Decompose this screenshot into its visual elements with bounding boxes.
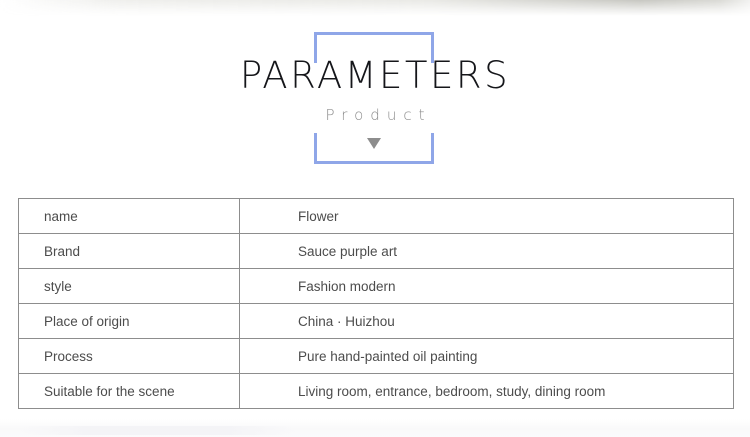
product-parameters-table: name Flower Brand Sauce purple art style… — [18, 198, 734, 409]
table-row: Process Pure hand-painted oil painting — [19, 339, 734, 374]
param-label: Suitable for the scene — [19, 374, 240, 409]
bracket-bottom-left — [314, 133, 317, 164]
table-body: name Flower Brand Sauce purple art style… — [19, 199, 734, 409]
param-label: Process — [19, 339, 240, 374]
param-label: Brand — [19, 234, 240, 269]
param-label: Place of origin — [19, 304, 240, 339]
bottom-section-bleed — [0, 419, 750, 437]
param-value: Pure hand-painted oil painting — [240, 339, 734, 374]
table-row: style Fashion modern — [19, 269, 734, 304]
table-row: Brand Sauce purple art — [19, 234, 734, 269]
triangle-down-icon — [367, 138, 381, 149]
param-label: name — [19, 199, 240, 234]
param-value: Flower — [240, 199, 734, 234]
page-header: PARAMETERS Product — [0, 0, 750, 180]
param-value: Fashion modern — [240, 269, 734, 304]
table-row: Place of origin China · Huizhou — [19, 304, 734, 339]
param-value: Living room, entrance, bedroom, study, d… — [240, 374, 734, 409]
param-value: China · Huizhou — [240, 304, 734, 339]
page-title: PARAMETERS — [0, 57, 750, 94]
bracket-top-bar — [314, 32, 434, 35]
bracket-bottom-right — [431, 133, 434, 164]
table-row: Suitable for the scene Living room, entr… — [19, 374, 734, 409]
param-label: style — [19, 269, 240, 304]
table-row: name Flower — [19, 199, 734, 234]
param-value: Sauce purple art — [240, 234, 734, 269]
bracket-bottom-bar — [314, 161, 434, 164]
page-subtitle: Product — [0, 108, 750, 123]
